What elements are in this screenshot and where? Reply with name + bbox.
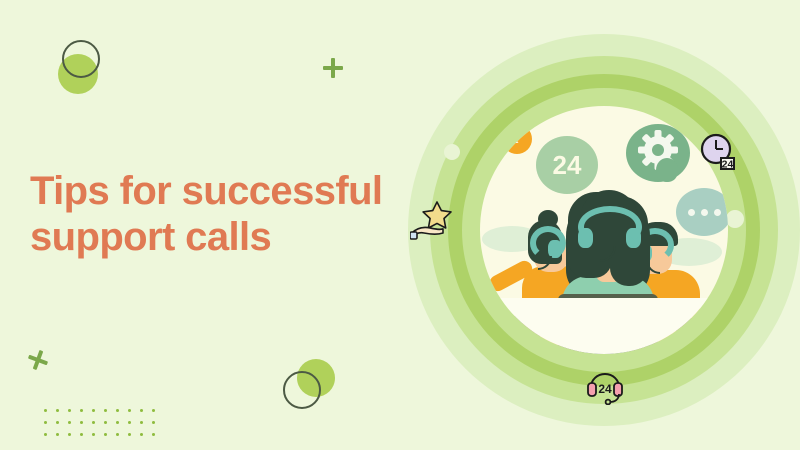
page-title: Tips for successful support calls [30,168,420,260]
headset-badge-label: 24 [598,382,612,396]
title-line-2: support calls [30,214,420,260]
bubble-info: i [502,124,532,154]
clock-icon: 24 [698,132,738,172]
dot [714,209,721,216]
deco-circle-pair-top-left [50,40,106,96]
plus-mark-bottom-left [25,347,51,373]
hand-holding-star-badge [410,200,454,240]
title-line-1: Tips for successful [30,168,420,214]
headset-24-badge: 24 [583,371,627,405]
bubble-small-shield [656,158,678,182]
deco-circle-pair-bottom [283,357,339,413]
dot-grid [44,409,164,445]
clock-24-badge: 24 [698,132,738,172]
headset-icon: 24 [583,371,627,405]
star-in-hand-icon [410,200,454,240]
desk-surface [480,298,728,354]
deco-ring [283,371,321,409]
clock-badge-label: 24 [722,159,734,171]
ring-dot-left [444,144,460,160]
agent-center-headband [578,206,642,248]
bubble-24-hours: 24 [536,136,598,194]
illustration-call-center: 24 [408,34,800,426]
deco-ring [62,40,100,78]
plus-mark-top [323,58,343,78]
scene: 24 [480,106,728,354]
ring-dot-right [726,210,744,228]
illustration-inner-disc: 24 [480,106,728,354]
slide-canvas: Tips for successful support calls 24 [0,0,800,450]
